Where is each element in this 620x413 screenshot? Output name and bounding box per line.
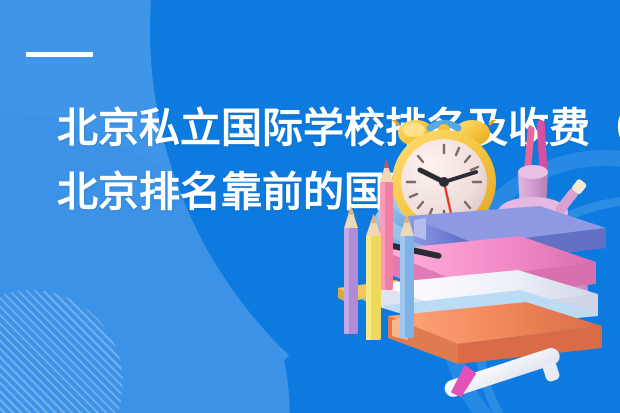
- promo-banner: 北京私立国际学校排名及收费（ 北京排名靠前的国际学: [0, 0, 620, 413]
- study-supplies-illustration: [330, 120, 620, 413]
- pencil-pink: [380, 160, 393, 290]
- pencil-yellow: [366, 214, 381, 340]
- pencil-purple: [344, 206, 358, 334]
- accent-rule: [26, 52, 93, 57]
- pencil-blue: [400, 214, 414, 338]
